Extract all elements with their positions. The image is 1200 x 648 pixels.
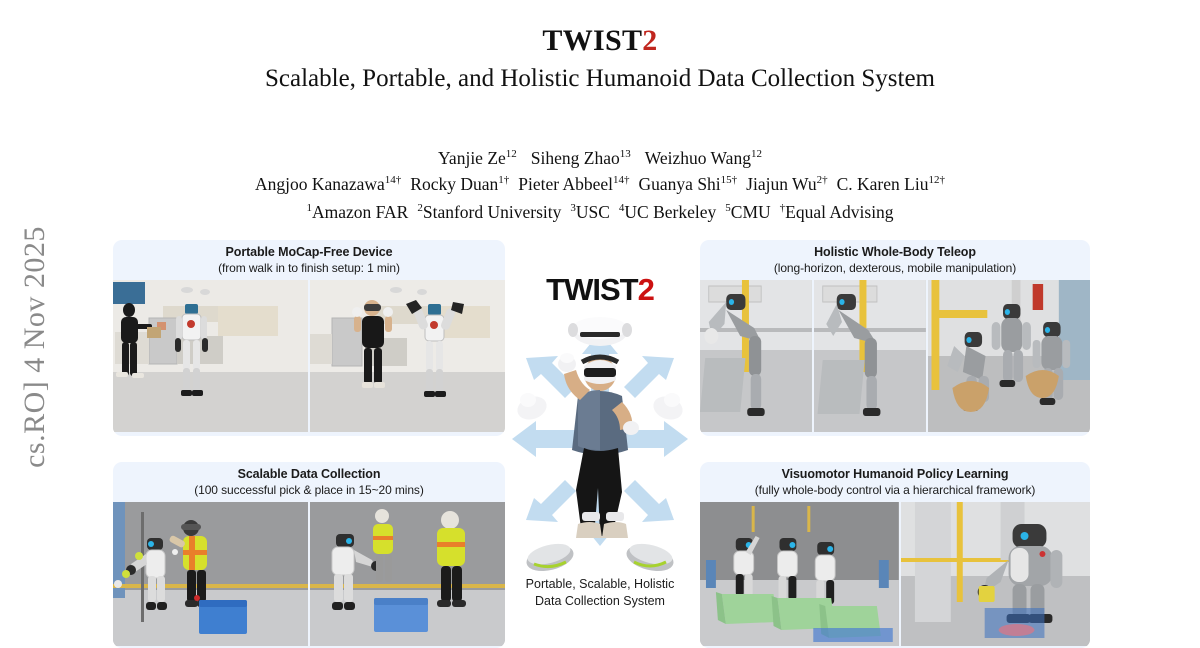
author-affiliation-marker: 14† [385, 174, 402, 186]
author-affiliation-marker: 12† [928, 174, 945, 186]
page-subtitle: Scalable, Portable, and Holistic Humanoi… [110, 63, 1090, 94]
panel-holistic-whole-body-teleop: Holistic Whole-Body Teleop (long-horizon… [700, 240, 1090, 436]
page-title: TWIST2 [110, 24, 1090, 57]
panel-header: Scalable Data Collection (100 successful… [113, 462, 505, 502]
panel-header: Visuomotor Humanoid Policy Learning (ful… [700, 462, 1090, 502]
photo-vr-operator-mirror [310, 280, 505, 432]
panel-photo-strip [113, 280, 505, 432]
panel-photo-strip [700, 502, 1090, 646]
author-name: Angjoo Kanazawa [255, 174, 385, 194]
affiliation-name: USC [576, 202, 610, 222]
ankle-tracker-icon [606, 512, 624, 521]
vr-operator-figure [510, 312, 690, 574]
paper-header: TWIST2 Scalable, Portable, and Holistic … [110, 24, 1090, 94]
author-affiliation-marker: 1† [498, 174, 509, 186]
photo-robots-green-boxes [700, 502, 899, 646]
center-caption-line-1: Portable, Scalable, Holistic [510, 576, 690, 593]
title-main: TWIST [542, 24, 642, 57]
center-caption-line-2: Data Collection System [510, 593, 690, 610]
affiliation-name: Amazon FAR [312, 202, 408, 222]
ankle-tracker-icon [582, 512, 600, 521]
panel-header: Holistic Whole-Body Teleop (long-horizon… [700, 240, 1090, 280]
vr-headset-icon [568, 317, 632, 346]
photo-robot-bin-reach-1 [700, 280, 812, 432]
author-block: Yanjie Ze12Siheng Zhao13Weizhuo Wang12 A… [110, 145, 1090, 225]
twist2-logo: TWIST2 [510, 272, 690, 308]
panel-header: Portable MoCap-Free Device (from walk in… [113, 240, 505, 280]
author-name: C. Karen Liu [837, 174, 929, 194]
panel-subtitle: (100 successful pick & place in 15~20 mi… [117, 483, 501, 499]
author-affiliation-marker: 2† [817, 174, 828, 186]
panel-title: Portable MoCap-Free Device [117, 245, 501, 261]
author-name: Jiajun Wu [746, 174, 816, 194]
author-name: Guanya Shi [639, 174, 721, 194]
panel-title: Holistic Whole-Body Teleop [704, 245, 1086, 261]
photo-worker-robot-pick-1 [113, 502, 308, 646]
panel-scalable-data-collection: Scalable Data Collection (100 successful… [113, 462, 505, 648]
author-line-1: Yanjie Ze12Siheng Zhao13Weizhuo Wang12 [110, 145, 1090, 171]
logo-main: TWIST [546, 272, 637, 307]
photo-kitchen-walkin [113, 280, 308, 432]
teleop-operator-illustration [510, 312, 690, 574]
panel-photo-strip [113, 502, 505, 646]
panel-subtitle: (long-horizon, dexterous, mobile manipul… [704, 261, 1086, 277]
panel-subtitle: (from walk in to finish setup: 1 min) [117, 261, 501, 277]
panel-visuomotor-humanoid-policy-learning: Visuomotor Humanoid Policy Learning (ful… [700, 462, 1090, 648]
author-name: Siheng Zhao [531, 148, 620, 168]
author-name: Rocky Duan [410, 174, 498, 194]
author-name: Yanjie Ze [438, 148, 506, 168]
author-affiliation-marker: 15† [721, 174, 738, 186]
logo-superscript: 2 [638, 272, 654, 307]
author-affiliation-marker: 12 [751, 148, 762, 160]
center-caption: Portable, Scalable, Holistic Data Collec… [510, 576, 690, 610]
panel-photo-strip [700, 280, 1090, 432]
teaser-figure: Portable MoCap-Free Device (from walk in… [0, 236, 1200, 648]
panel-title: Visuomotor Humanoid Policy Learning [704, 467, 1086, 483]
author-name: Weizhuo Wang [645, 148, 751, 168]
author-affiliation-marker: 14† [613, 174, 630, 186]
affiliation-name: Stanford University [423, 202, 562, 222]
photo-robot-bin-reach-2 [814, 280, 926, 432]
author-name: Pieter Abbeel [518, 174, 613, 194]
panel-subtitle: (fully whole-body control via a hierarch… [704, 483, 1086, 499]
affiliation-name: UC Berkeley [624, 202, 716, 222]
photo-robot-holding-cup [901, 502, 1090, 646]
panel-title: Scalable Data Collection [117, 467, 501, 483]
affiliation-name: Equal Advising [785, 202, 893, 222]
photo-worker-robot-pick-2 [310, 502, 505, 646]
center-column: TWIST2 [510, 236, 690, 648]
author-affiliation-marker: 13 [620, 148, 631, 160]
author-affiliation-marker: 12 [506, 148, 517, 160]
panel-portable-mocap-free-device: Portable MoCap-Free Device (from walk in… [113, 240, 505, 436]
author-line-2: Angjoo Kanazawa14†Rocky Duan1†Pieter Abb… [110, 171, 1090, 197]
photo-robot-carrying-baskets [928, 280, 1090, 432]
affiliation-line: 1Amazon FAR2Stanford University3USC4UC B… [110, 199, 1090, 225]
title-superscript: 2 [642, 24, 657, 57]
foot-tracker-icon [524, 540, 676, 574]
affiliation-name: CMU [731, 202, 771, 222]
